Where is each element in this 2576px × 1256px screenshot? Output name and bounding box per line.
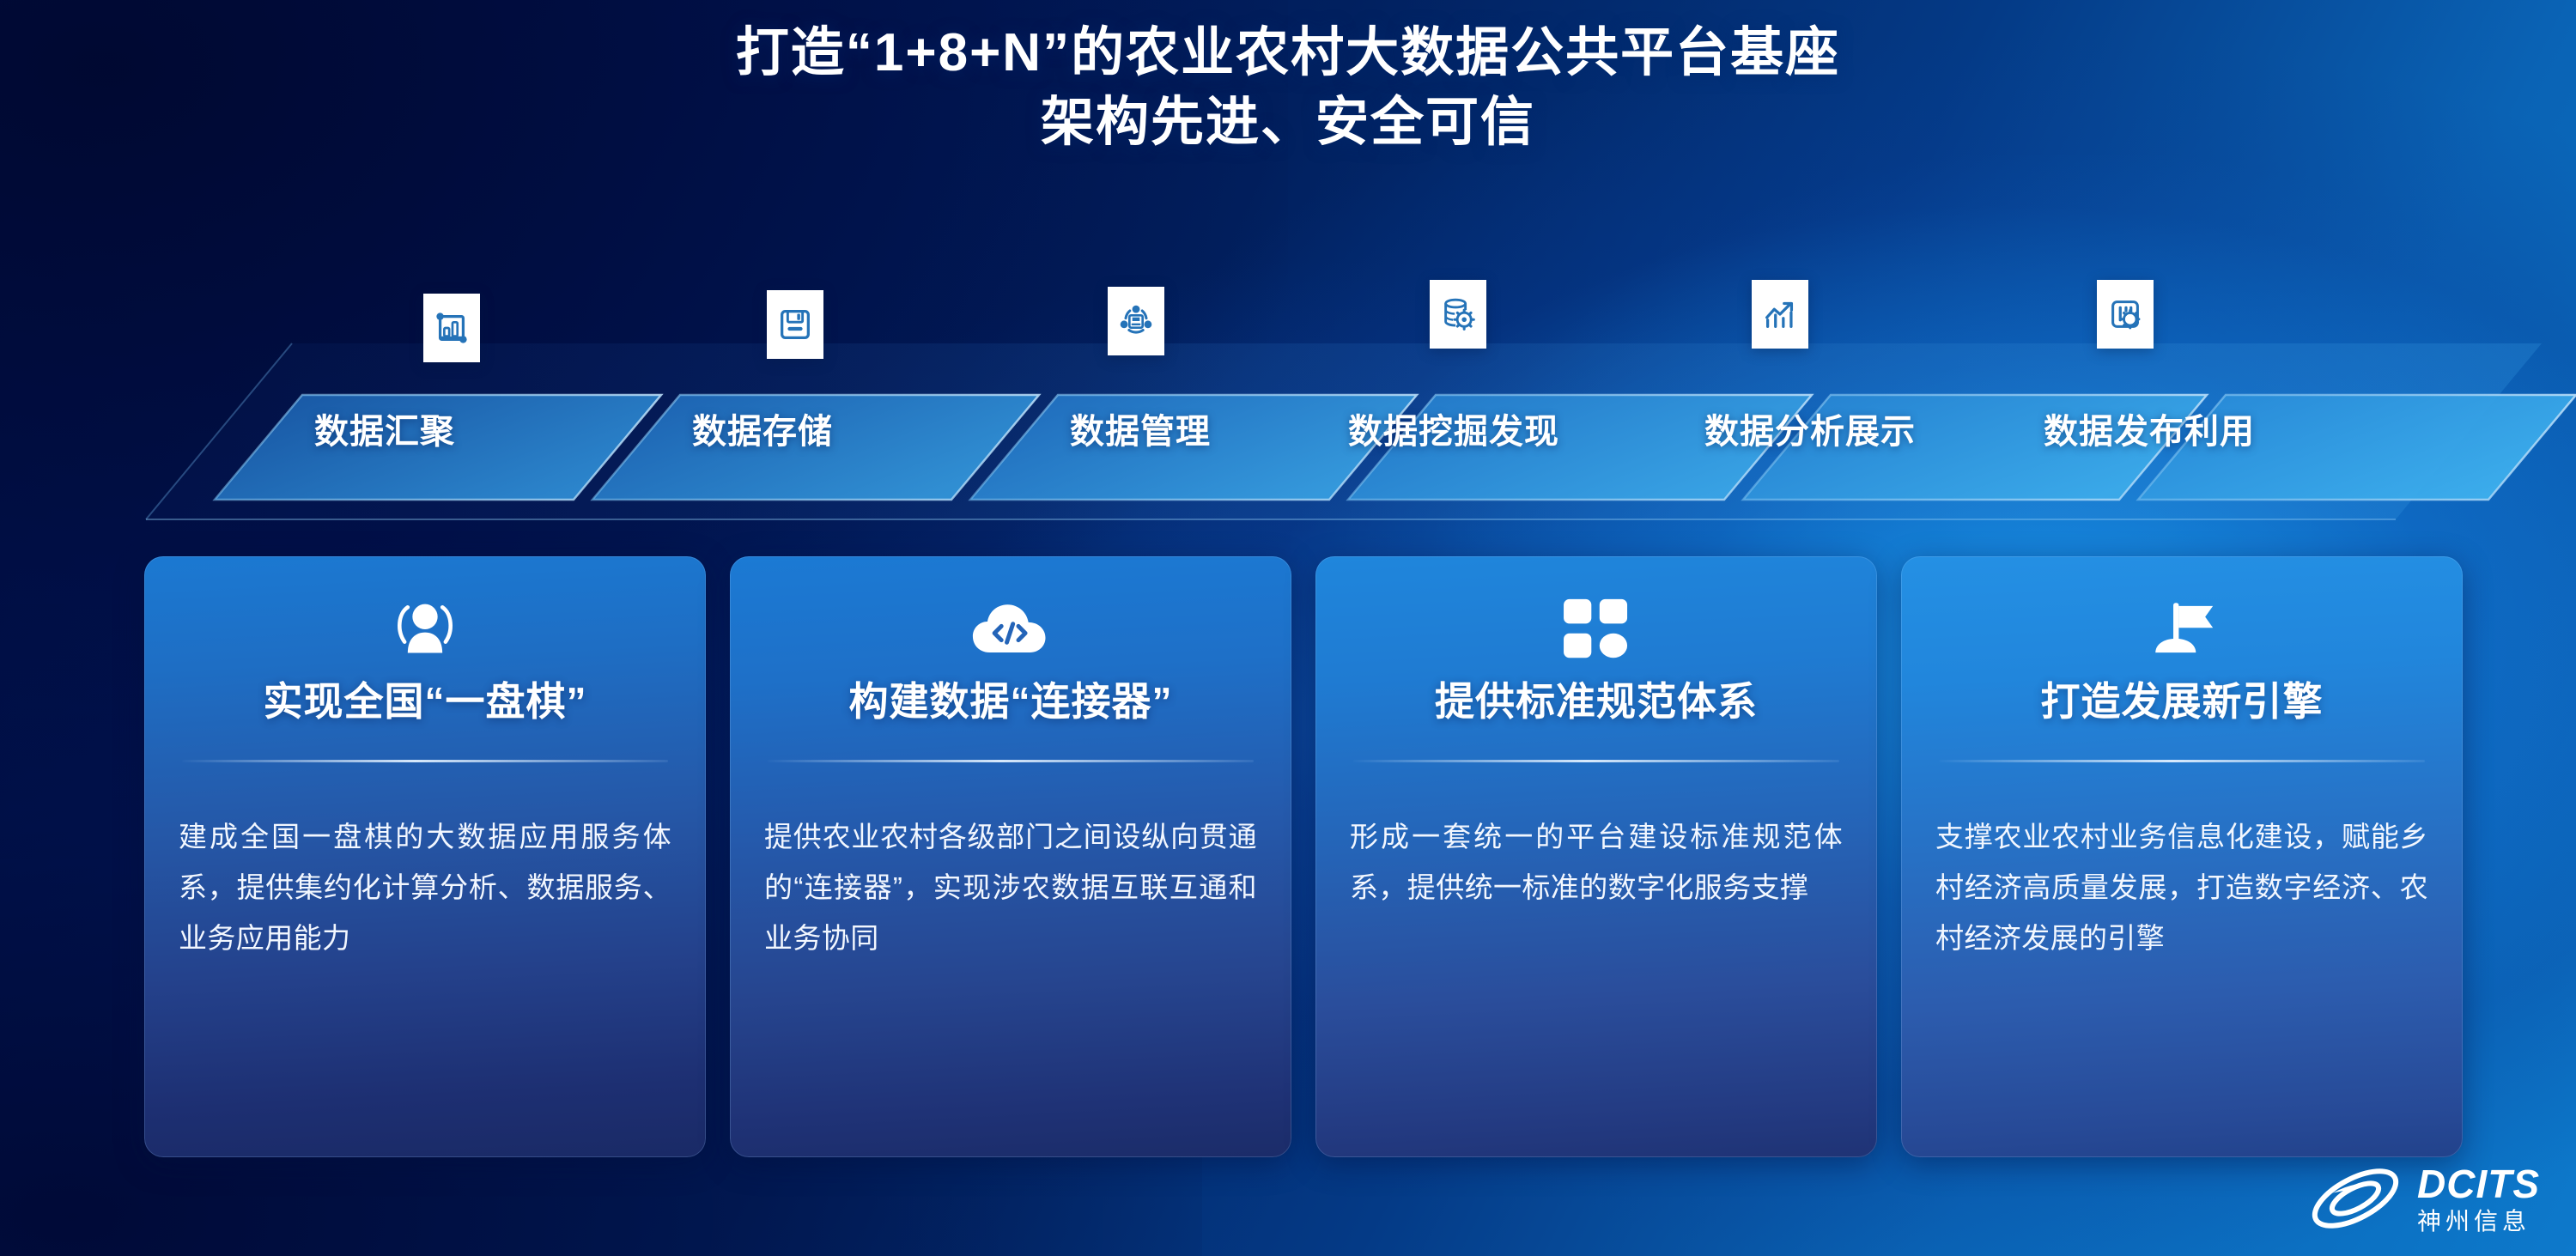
feature-card-3-title: 提供标准规范体系 bbox=[1350, 678, 1843, 725]
trending-bar-chart-icon bbox=[1752, 280, 1808, 349]
bar-chart-frame-icon bbox=[423, 294, 480, 362]
dcits-swoosh-icon bbox=[2307, 1163, 2403, 1234]
page-title: 打造“1+8+N”的农业农村大数据公共平台基座 架构先进、安全可信 bbox=[0, 19, 2576, 157]
feature-card-3-desc: 形成一套统一的平台建设标准规范体系，提供统一标准的数字化服务支撑 bbox=[1350, 812, 1843, 913]
process-step-1-label: 数据汇聚 bbox=[314, 403, 455, 453]
card-divider bbox=[182, 760, 668, 762]
feature-card-2-desc: 提供农业农村各级部门之间设纵向贯通的“连接器”，实现涉农数据互联互通和业务协同 bbox=[764, 812, 1257, 963]
feature-card-4-desc: 支撑农业农村业务信息化建设，赋能乡村经济高质量发展，打造数字经济、农村经济发展的… bbox=[1935, 812, 2428, 963]
feature-card-1[interactable]: 实现全国“一盘棋” 建成全国一盘棋的大数据应用服务体系，提供集约化计算分析、数据… bbox=[144, 556, 706, 1157]
feature-card-2-title: 构建数据“连接器” bbox=[764, 678, 1257, 725]
title-line-1: 打造“1+8+N”的农业农村大数据公共平台基座 bbox=[0, 19, 2576, 88]
panel-gear-icon bbox=[2097, 280, 2154, 349]
process-step-2-label: 数据存储 bbox=[692, 403, 833, 453]
process-step-3-label: 数据管理 bbox=[1070, 403, 1211, 453]
process-ribbon: 数据汇聚 数据存储 bbox=[0, 258, 2576, 541]
ribbon-shapes bbox=[0, 258, 2576, 541]
title-line-2: 架构先进、安全可信 bbox=[0, 88, 2576, 158]
document-network-icon bbox=[1108, 287, 1164, 355]
feature-card-2[interactable]: 构建数据“连接器” 提供农业农村各级部门之间设纵向贯通的“连接器”，实现涉农数据… bbox=[730, 556, 1291, 1157]
feature-cards: 实现全国“一盘棋” 建成全国一盘棋的大数据应用服务体系，提供集约化计算分析、数据… bbox=[144, 556, 2463, 1157]
process-step-5-label: 数据分析展示 bbox=[1704, 403, 1916, 453]
flag-hill-icon bbox=[1935, 592, 2428, 666]
grid-blocks-icon bbox=[1350, 592, 1843, 666]
logo-text: DCITS 神州信息 bbox=[2417, 1164, 2540, 1234]
database-gear-icon bbox=[1430, 280, 1486, 349]
card-divider bbox=[768, 760, 1254, 762]
feature-card-4-title: 打造发展新引擎 bbox=[1935, 678, 2428, 725]
floppy-disk-icon bbox=[767, 290, 823, 359]
cloud-code-icon bbox=[764, 592, 1257, 666]
feature-card-4[interactable]: 打造发展新引擎 支撑农业农村业务信息化建设，赋能乡村经济高质量发展，打造数字经济… bbox=[1901, 556, 2463, 1157]
card-divider bbox=[1939, 760, 2425, 762]
logo-en: DCITS bbox=[2417, 1164, 2540, 1204]
feature-card-3[interactable]: 提供标准规范体系 形成一套统一的平台建设标准规范体系，提供统一标准的数字化服务支… bbox=[1315, 556, 1877, 1157]
users-group-icon bbox=[179, 592, 671, 666]
process-step-4-label: 数据挖掘发现 bbox=[1348, 403, 1559, 453]
logo-cn: 神州信息 bbox=[2417, 1210, 2540, 1234]
card-divider bbox=[1353, 760, 1839, 762]
company-logo: DCITS 神州信息 bbox=[2307, 1163, 2540, 1234]
feature-card-1-desc: 建成全国一盘棋的大数据应用服务体系，提供集约化计算分析、数据服务、业务应用能力 bbox=[179, 812, 671, 963]
feature-card-1-title: 实现全国“一盘棋” bbox=[179, 678, 671, 725]
process-step-6-label: 数据发布利用 bbox=[2044, 403, 2255, 453]
